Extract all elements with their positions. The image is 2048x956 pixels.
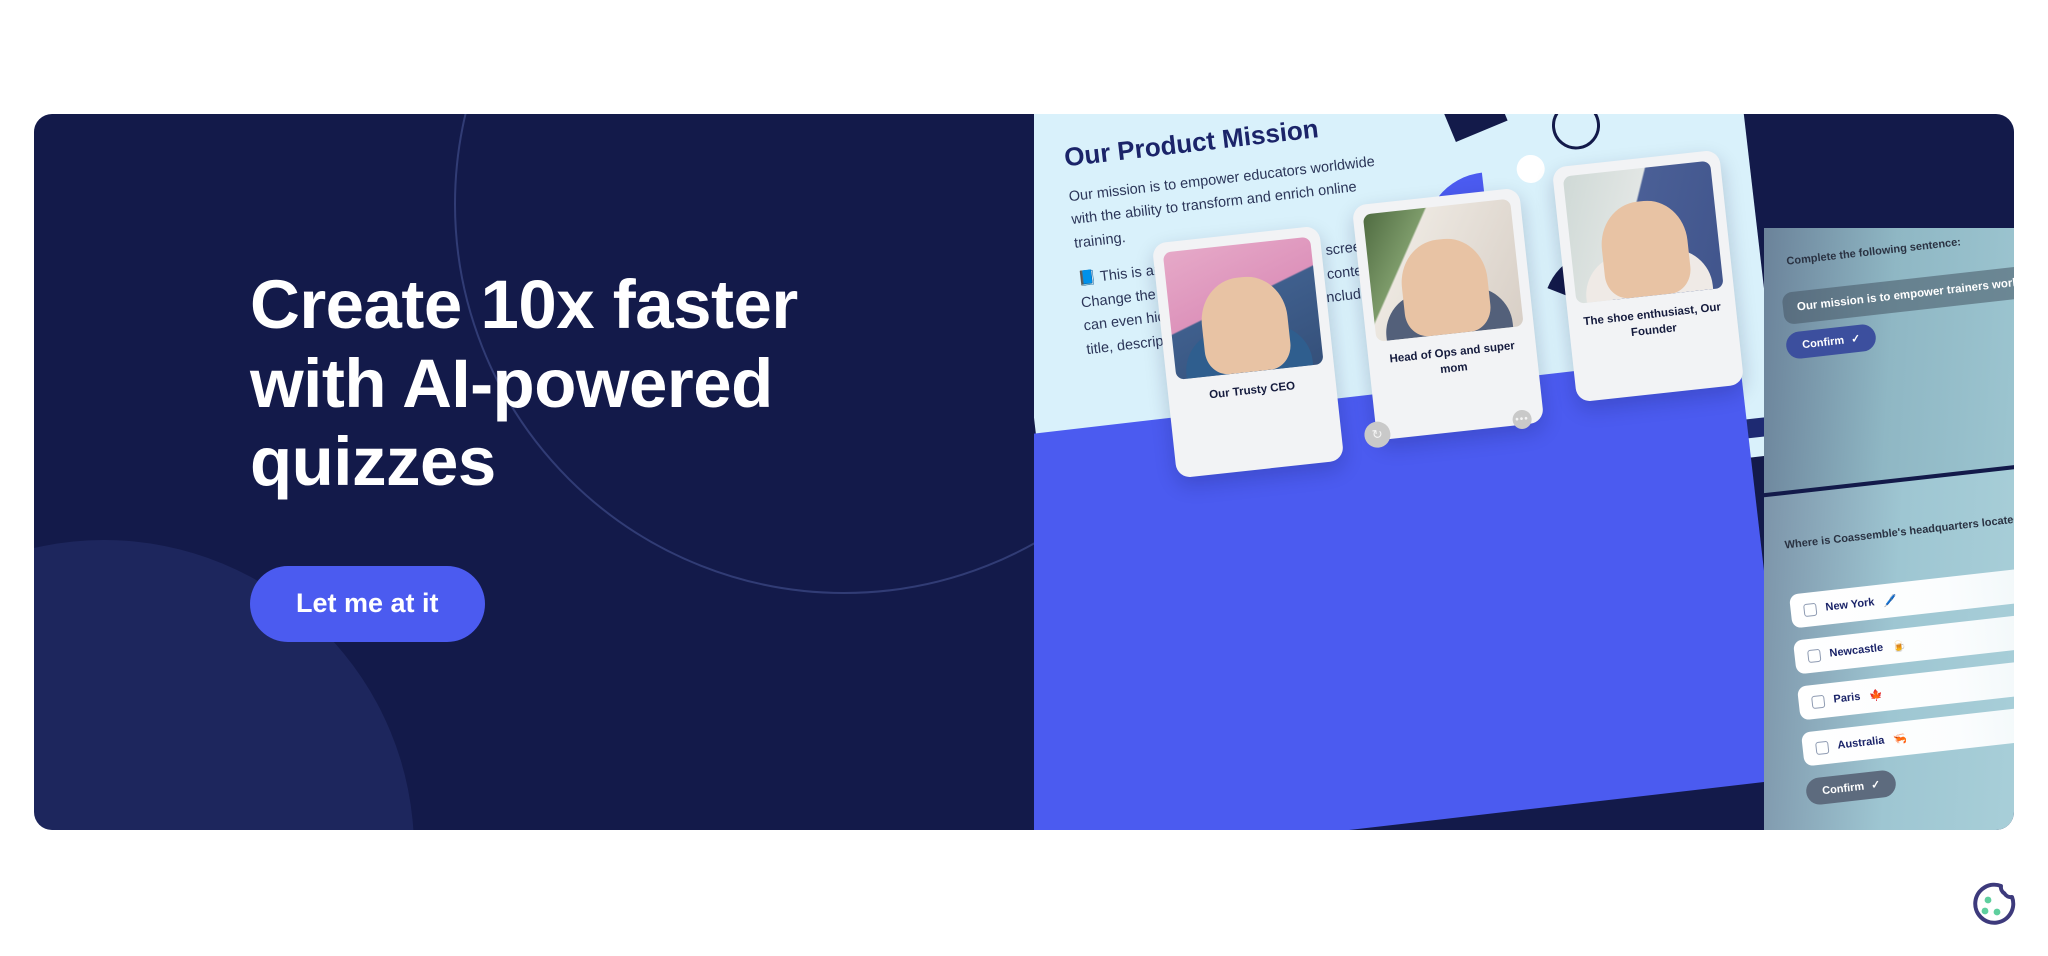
let-me-at-it-button[interactable]: Let me at it [250, 566, 485, 642]
quiz-option-emoji-icon: 🖊️ [1883, 593, 1898, 607]
check-icon: ✓ [1870, 778, 1881, 792]
cookie-icon [1964, 876, 2022, 934]
photo-face [1597, 197, 1693, 300]
team-photo [1363, 199, 1524, 342]
flip-card-icon[interactable]: ↻ [1363, 420, 1392, 449]
quiz-option-emoji-icon: 🍺 [1891, 639, 1906, 653]
more-options-icon[interactable]: ••• [1512, 408, 1533, 429]
photo-face [1397, 235, 1493, 338]
quiz-option-label: New York [1825, 596, 1875, 613]
quiz-option-label: Paris [1833, 691, 1861, 706]
team-card-caption: Head of Ops and super mom [1378, 338, 1528, 385]
photo-face [1197, 273, 1293, 376]
book-emoji-icon: 📘 [1077, 267, 1098, 292]
checkbox-icon[interactable] [1815, 740, 1829, 754]
hero-banner: Create 10x faster with AI-powered quizze… [34, 114, 2014, 830]
check-icon: ✓ [1850, 332, 1861, 346]
team-card[interactable]: The shoe enthusiast, Our Founder [1552, 150, 1745, 403]
confirm-label: Confirm [1822, 780, 1865, 797]
team-card[interactable]: Our Trusty CEO [1152, 226, 1345, 479]
checkbox-icon[interactable] [1811, 694, 1825, 708]
team-card-caption: The shoe enthusiast, Our Founder [1578, 300, 1728, 347]
quiz-option-emoji-icon: 🍁 [1869, 688, 1884, 702]
team-photo [1163, 237, 1324, 380]
quiz-option-label: Australia [1837, 734, 1885, 751]
team-photo [1563, 161, 1724, 304]
cookie-consent-button[interactable] [1964, 876, 2022, 934]
ring-shape-icon [1549, 114, 1602, 152]
quiz-screen-sentence [1764, 228, 2014, 496]
team-card[interactable]: Head of Ops and super mom [1352, 188, 1545, 441]
quiz-preview-strip: Complete the following sentence: Our mis… [1764, 228, 2014, 830]
hero-copy: Create 10x faster with AI-powered quizze… [250, 266, 870, 642]
confirm-label: Confirm [1802, 334, 1845, 351]
checkbox-icon[interactable] [1807, 648, 1821, 662]
checkbox-icon[interactable] [1803, 602, 1817, 616]
team-card-caption: Our Trusty CEO [1178, 376, 1327, 407]
quiz-option-emoji-icon: 🦐 [1893, 731, 1908, 745]
page-title: Create 10x faster with AI-powered quizze… [250, 266, 870, 502]
quiz-option-label: Newcastle [1829, 642, 1884, 660]
square-shape-icon [1434, 114, 1507, 142]
